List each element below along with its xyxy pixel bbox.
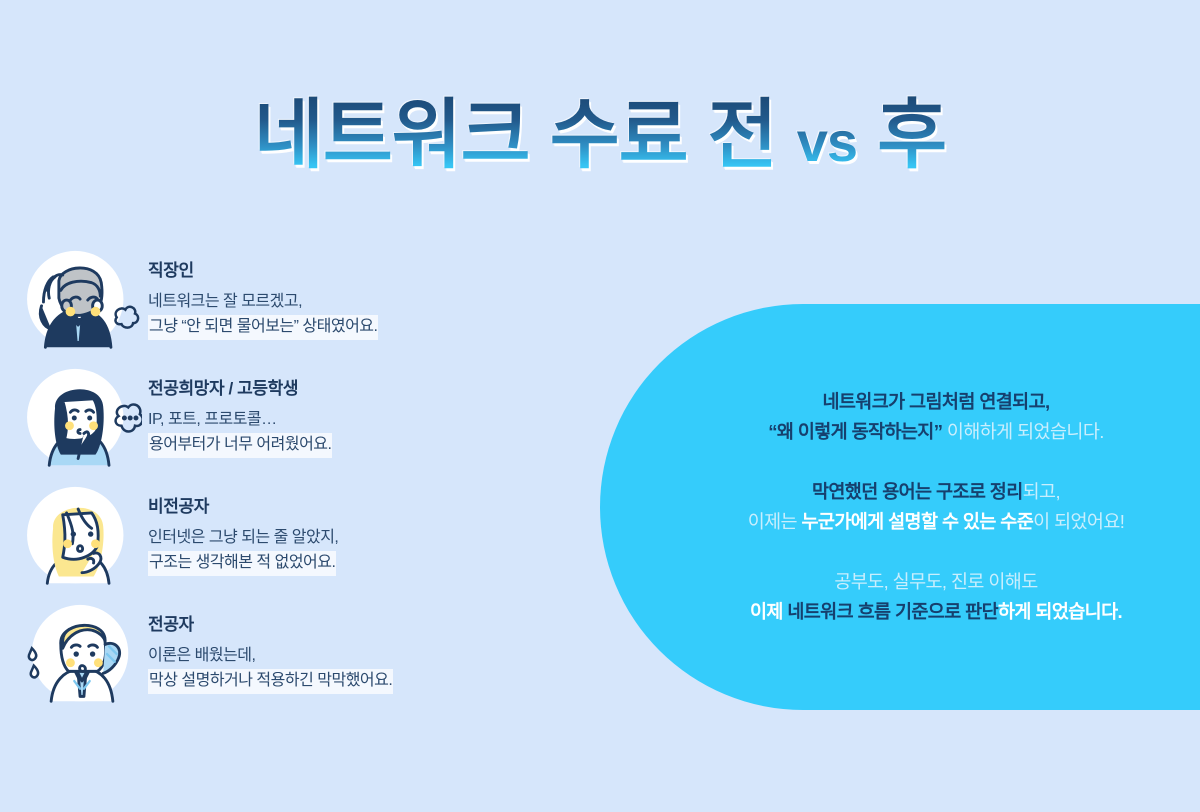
person-quote-line2: 구조는 생각해본 적 없었어요.	[148, 551, 336, 576]
after-p3-line2-emphasis: 네트워크 흐름 기준으로 판단	[787, 601, 998, 622]
person-text-block: 전공희망자 / 고등학생 IP, 포트, 프로토콜… 용어부터가 너무 어려웠어…	[148, 366, 332, 458]
office-worker-avatar	[22, 248, 128, 354]
page-title-area: 네트워크 수료 전 vs 후	[0, 96, 1200, 206]
after-p3-line2-prefix: 이제	[750, 601, 787, 622]
person-quote-line2: 막상 설명하거나 적용하긴 막막했어요.	[148, 669, 393, 694]
after-panel: 네트워크가 그림처럼 연결되고, “왜 이렇게 동작하는지” 이해하게 되었습니…	[600, 304, 1200, 710]
person-role: 직장인	[148, 256, 378, 281]
after-p2-line1-emphasis: 막연했던 용어는 구조로 정리	[812, 481, 1023, 502]
list-item: 비전공자 인터넷은 그냥 되는 줄 알았지, 구조는 생각해본 적 없었어요.	[0, 484, 560, 602]
page-title: 네트워크 수료 전 vs 후	[254, 96, 946, 176]
person-quote-line2: 용어부터가 너무 어려웠어요.	[148, 433, 332, 458]
person-role: 전공자	[148, 610, 393, 635]
after-p3-line1: 공부도, 실무도, 진로 이해도	[834, 571, 1037, 592]
person-quote-line1: IP, 포트, 프로토콜…	[148, 408, 332, 433]
infographic-canvas: 네트워크 수료 전 vs 후	[0, 0, 1200, 812]
after-p3-line2-suffix: 하게 되었습니다.	[998, 601, 1122, 622]
after-panel-content: 네트워크가 그림처럼 연결되고, “왜 이렇게 동작하는지” 이해하게 되었습니…	[676, 387, 1196, 627]
after-paragraph-1: 네트워크가 그림처럼 연결되고, “왜 이렇게 동작하는지” 이해하게 되었습니…	[676, 387, 1196, 447]
non-major-woman-avatar	[22, 484, 128, 590]
after-p2-line2-prefix: 이제는	[748, 511, 802, 532]
after-p2-line1-rest: 되고,	[1023, 481, 1060, 502]
list-item: 전공자 이론은 배웠는데, 막상 설명하거나 적용하긴 막막했어요.	[0, 602, 560, 720]
person-text-block: 비전공자 인터넷은 그냥 되는 줄 알았지, 구조는 생각해본 적 없었어요.	[148, 484, 338, 576]
after-p1-line2-rest: 이해하게 되었습니다.	[942, 421, 1103, 442]
person-text-block: 직장인 네트워크는 잘 모르겠고, 그냥 “안 되면 물어보는” 상태였어요.	[148, 248, 378, 340]
person-quote-line1: 이론은 배웠는데,	[148, 644, 393, 669]
high-school-student-avatar	[22, 366, 128, 472]
major-student-avatar	[22, 602, 128, 708]
title-after-part: 후	[877, 93, 946, 178]
person-quote-line1: 인터넷은 그냥 되는 줄 알았지,	[148, 526, 338, 551]
after-p1-line2-emphasis: “왜 이렇게 동작하는지”	[768, 421, 942, 442]
before-list: 직장인 네트워크는 잘 모르겠고, 그냥 “안 되면 물어보는” 상태였어요.	[0, 248, 560, 720]
person-quote-line1: 네트워크는 잘 모르겠고,	[148, 290, 378, 315]
person-role: 전공희망자 / 고등학생	[148, 374, 332, 399]
after-paragraph-3: 공부도, 실무도, 진로 이해도 이제 네트워크 흐름 기준으로 판단하게 되었…	[676, 567, 1196, 627]
person-quote-line2: 그냥 “안 되면 물어보는” 상태였어요.	[148, 315, 378, 340]
after-p2-line2-emphasis: 누군가에게 설명할 수 있는 수준	[802, 511, 1034, 532]
after-p2-line2-suffix: 이 되었어요!	[1033, 511, 1124, 532]
person-text-block: 전공자 이론은 배웠는데, 막상 설명하거나 적용하긴 막막했어요.	[148, 602, 393, 694]
person-role: 비전공자	[148, 492, 338, 517]
list-item: 전공희망자 / 고등학생 IP, 포트, 프로토콜… 용어부터가 너무 어려웠어…	[0, 366, 560, 484]
title-vs-label: vs	[797, 110, 857, 173]
title-before-part: 네트워크 수료 전	[254, 93, 777, 178]
list-item: 직장인 네트워크는 잘 모르겠고, 그냥 “안 되면 물어보는” 상태였어요.	[0, 248, 560, 366]
after-p1-line1: 네트워크가 그림처럼 연결되고,	[822, 391, 1049, 412]
after-paragraph-2: 막연했던 용어는 구조로 정리되고, 이제는 누군가에게 설명할 수 있는 수준…	[676, 477, 1196, 537]
